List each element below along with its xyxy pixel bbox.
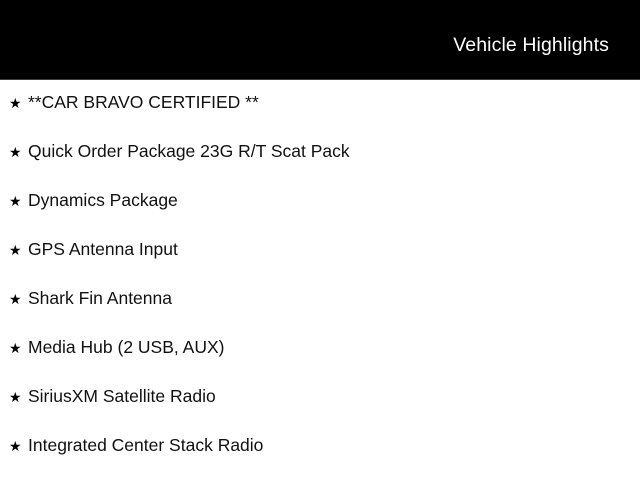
star-icon: ★ xyxy=(9,195,28,209)
star-icon: ★ xyxy=(9,293,28,307)
star-icon: ★ xyxy=(9,97,28,111)
list-item: ★ Integrated Center Stack Radio xyxy=(0,437,640,486)
vehicle-highlights-page: Vehicle Highlights ★ **CAR BRAVO CERTIFI… xyxy=(0,0,640,480)
highlight-label: Shark Fin Antenna xyxy=(28,290,172,308)
vehicle-highlights-list: ★ **CAR BRAVO CERTIFIED ** ★ Quick Order… xyxy=(0,80,640,486)
list-item: ★ Dynamics Package xyxy=(0,192,640,241)
highlight-label: Dynamics Package xyxy=(28,192,178,210)
highlight-label: Integrated Center Stack Radio xyxy=(28,437,263,455)
list-item: ★ GPS Antenna Input xyxy=(0,241,640,290)
list-item: ★ Shark Fin Antenna xyxy=(0,290,640,339)
highlight-label: Media Hub (2 USB, AUX) xyxy=(28,339,224,357)
star-icon: ★ xyxy=(9,146,28,160)
star-icon: ★ xyxy=(9,391,28,405)
page-title: Vehicle Highlights xyxy=(453,24,640,56)
star-icon: ★ xyxy=(9,342,28,356)
list-item: ★ SiriusXM Satellite Radio xyxy=(0,388,640,437)
highlight-label: Quick Order Package 23G R/T Scat Pack xyxy=(28,143,350,161)
highlight-label: **CAR BRAVO CERTIFIED ** xyxy=(28,94,259,112)
list-item: ★ Media Hub (2 USB, AUX) xyxy=(0,339,640,388)
star-icon: ★ xyxy=(9,440,28,454)
list-item: ★ Quick Order Package 23G R/T Scat Pack xyxy=(0,143,640,192)
highlight-label: SiriusXM Satellite Radio xyxy=(28,388,216,406)
star-icon: ★ xyxy=(9,244,28,258)
list-item: ★ **CAR BRAVO CERTIFIED ** xyxy=(0,94,640,143)
page-header: Vehicle Highlights xyxy=(0,0,640,79)
highlight-label: GPS Antenna Input xyxy=(28,241,178,259)
